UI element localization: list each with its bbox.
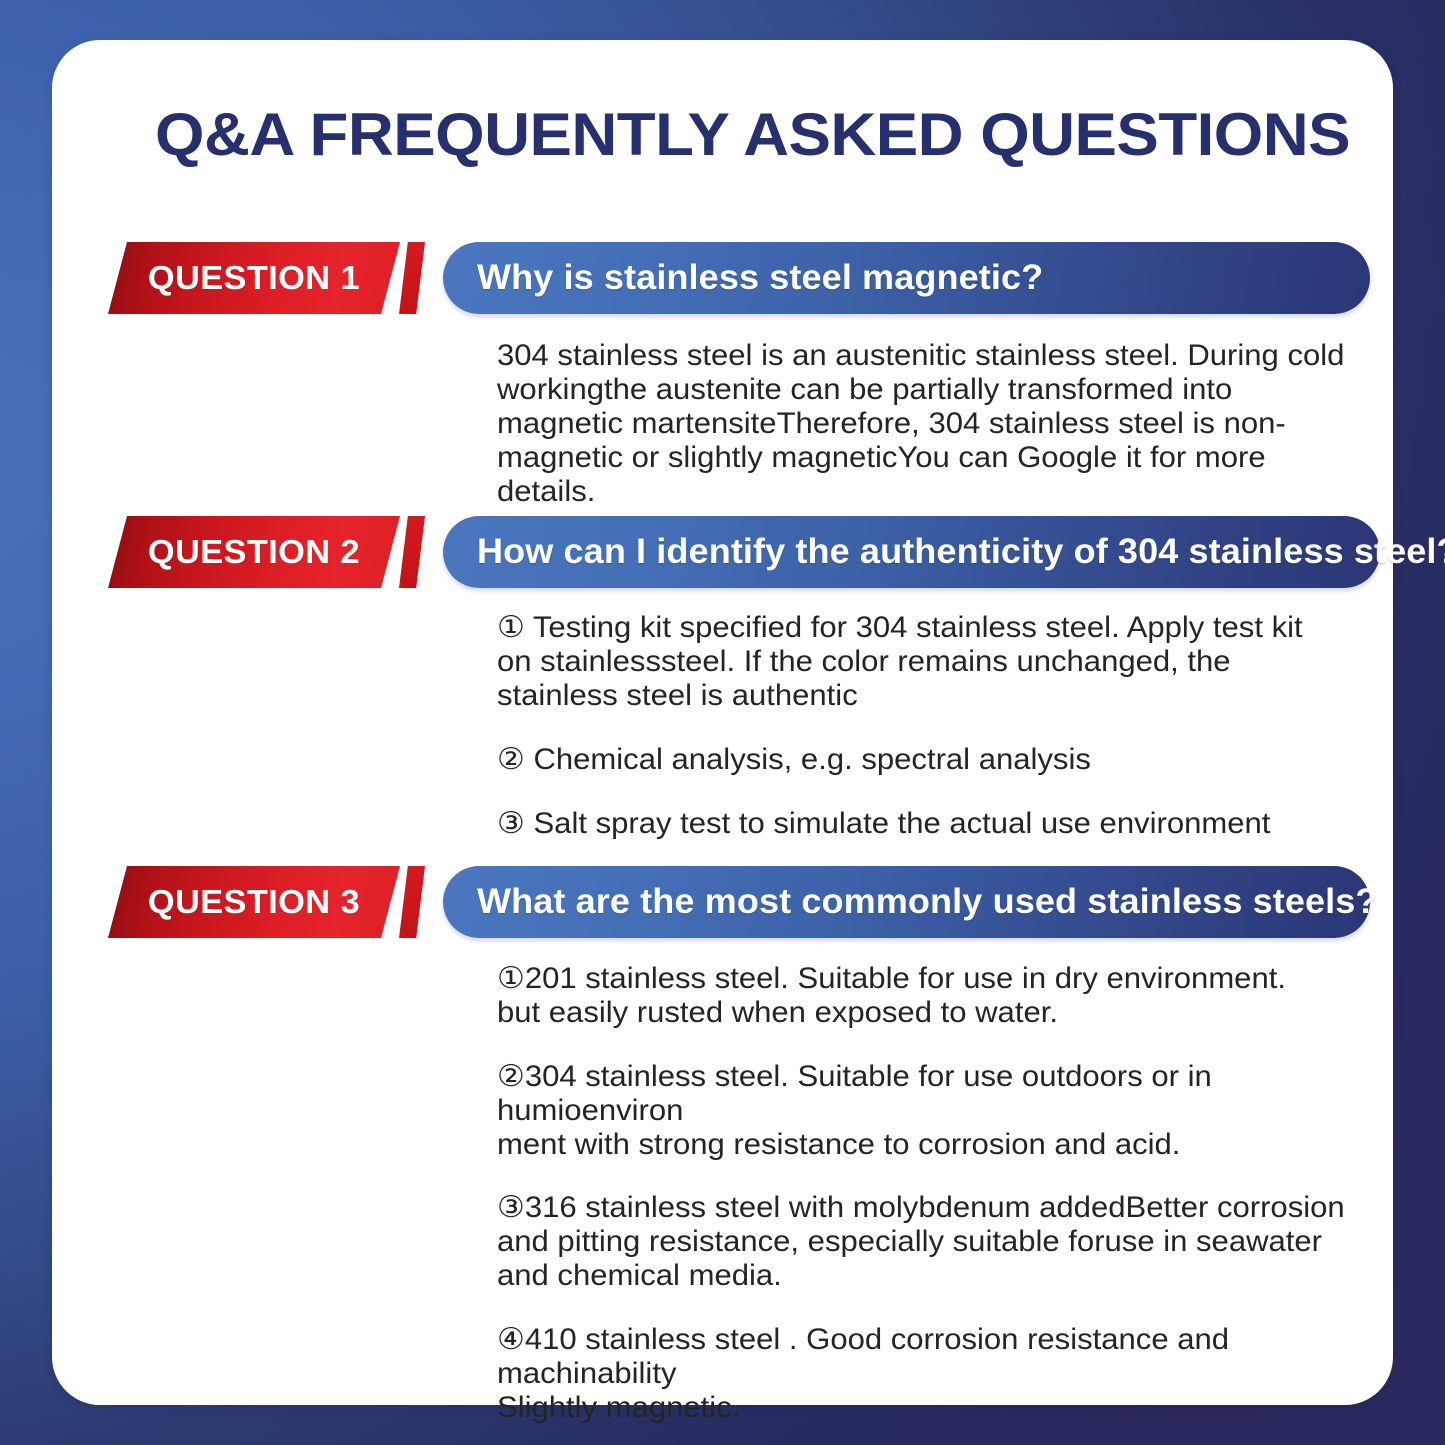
slash-divider-icon-2 — [399, 516, 425, 588]
slash-divider-icon-3 — [399, 866, 425, 938]
question-tag-label-1: QUESTION 1 — [148, 259, 360, 297]
question-text-2: How can I identify the authenticity of 3… — [443, 532, 1445, 572]
answer-paragraph: ②304 stainless steel. Suitable for use o… — [497, 1060, 1372, 1162]
question-tag-3[interactable]: QUESTION 3 — [108, 866, 400, 938]
question-text-3: What are the most commonly used stainles… — [443, 882, 1412, 922]
answer-paragraph: ①201 stainless steel. Suitable for use i… — [497, 962, 1325, 1030]
faq-banner-3: QUESTION 3 What are the most commonly us… — [0, 866, 1445, 938]
question-tag-1[interactable]: QUESTION 1 — [108, 242, 400, 314]
question-text-1: Why is stainless steel magnetic? — [443, 258, 1077, 298]
answer-group-3: ①201 stainless steel. Suitable for use i… — [497, 962, 1357, 1425]
page-title: Q&A FREQUENTLY ASKED QUESTIONS — [155, 105, 1374, 165]
faq-banner-2: QUESTION 2 How can I identify the authen… — [0, 516, 1445, 588]
question-tag-label-3: QUESTION 3 — [148, 883, 360, 921]
question-tag-label-2: QUESTION 2 — [148, 533, 360, 571]
answer-paragraph: ③316 stainless steel with molybdenum add… — [497, 1191, 1377, 1293]
faq-item-1: QUESTION 1 Why is stainless steel magnet… — [0, 242, 1445, 314]
question-tag-2[interactable]: QUESTION 2 — [108, 516, 400, 588]
answer-group-1: 304 stainless steel is an austenitic sta… — [497, 339, 1357, 508]
answer-paragraph: ③ Salt spray test to simulate the actual… — [497, 807, 1346, 841]
faq-item-3: QUESTION 3 What are the most commonly us… — [0, 866, 1445, 938]
faq-infographic: Q&A FREQUENTLY ASKED QUESTIONS QUESTION … — [0, 0, 1445, 1445]
answer-group-2: ① Testing kit specified for 304 stainles… — [497, 611, 1357, 840]
answer-paragraph: ④410 stainless steel . Good corrosion re… — [497, 1323, 1377, 1425]
question-pill-1[interactable]: Why is stainless steel magnetic? — [443, 242, 1370, 314]
question-pill-3[interactable]: What are the most commonly used stainles… — [443, 866, 1370, 938]
slash-divider-icon-1 — [399, 242, 425, 314]
faq-item-2: QUESTION 2 How can I identify the authen… — [0, 516, 1445, 588]
faq-banner-1: QUESTION 1 Why is stainless steel magnet… — [0, 242, 1445, 314]
answer-paragraph: 304 stainless steel is an austenitic sta… — [497, 339, 1361, 508]
answer-paragraph: ② Chemical analysis, e.g. spectral analy… — [497, 743, 1346, 777]
question-pill-2[interactable]: How can I identify the authenticity of 3… — [443, 516, 1380, 588]
answer-paragraph: ① Testing kit specified for 304 stainles… — [497, 611, 1325, 713]
